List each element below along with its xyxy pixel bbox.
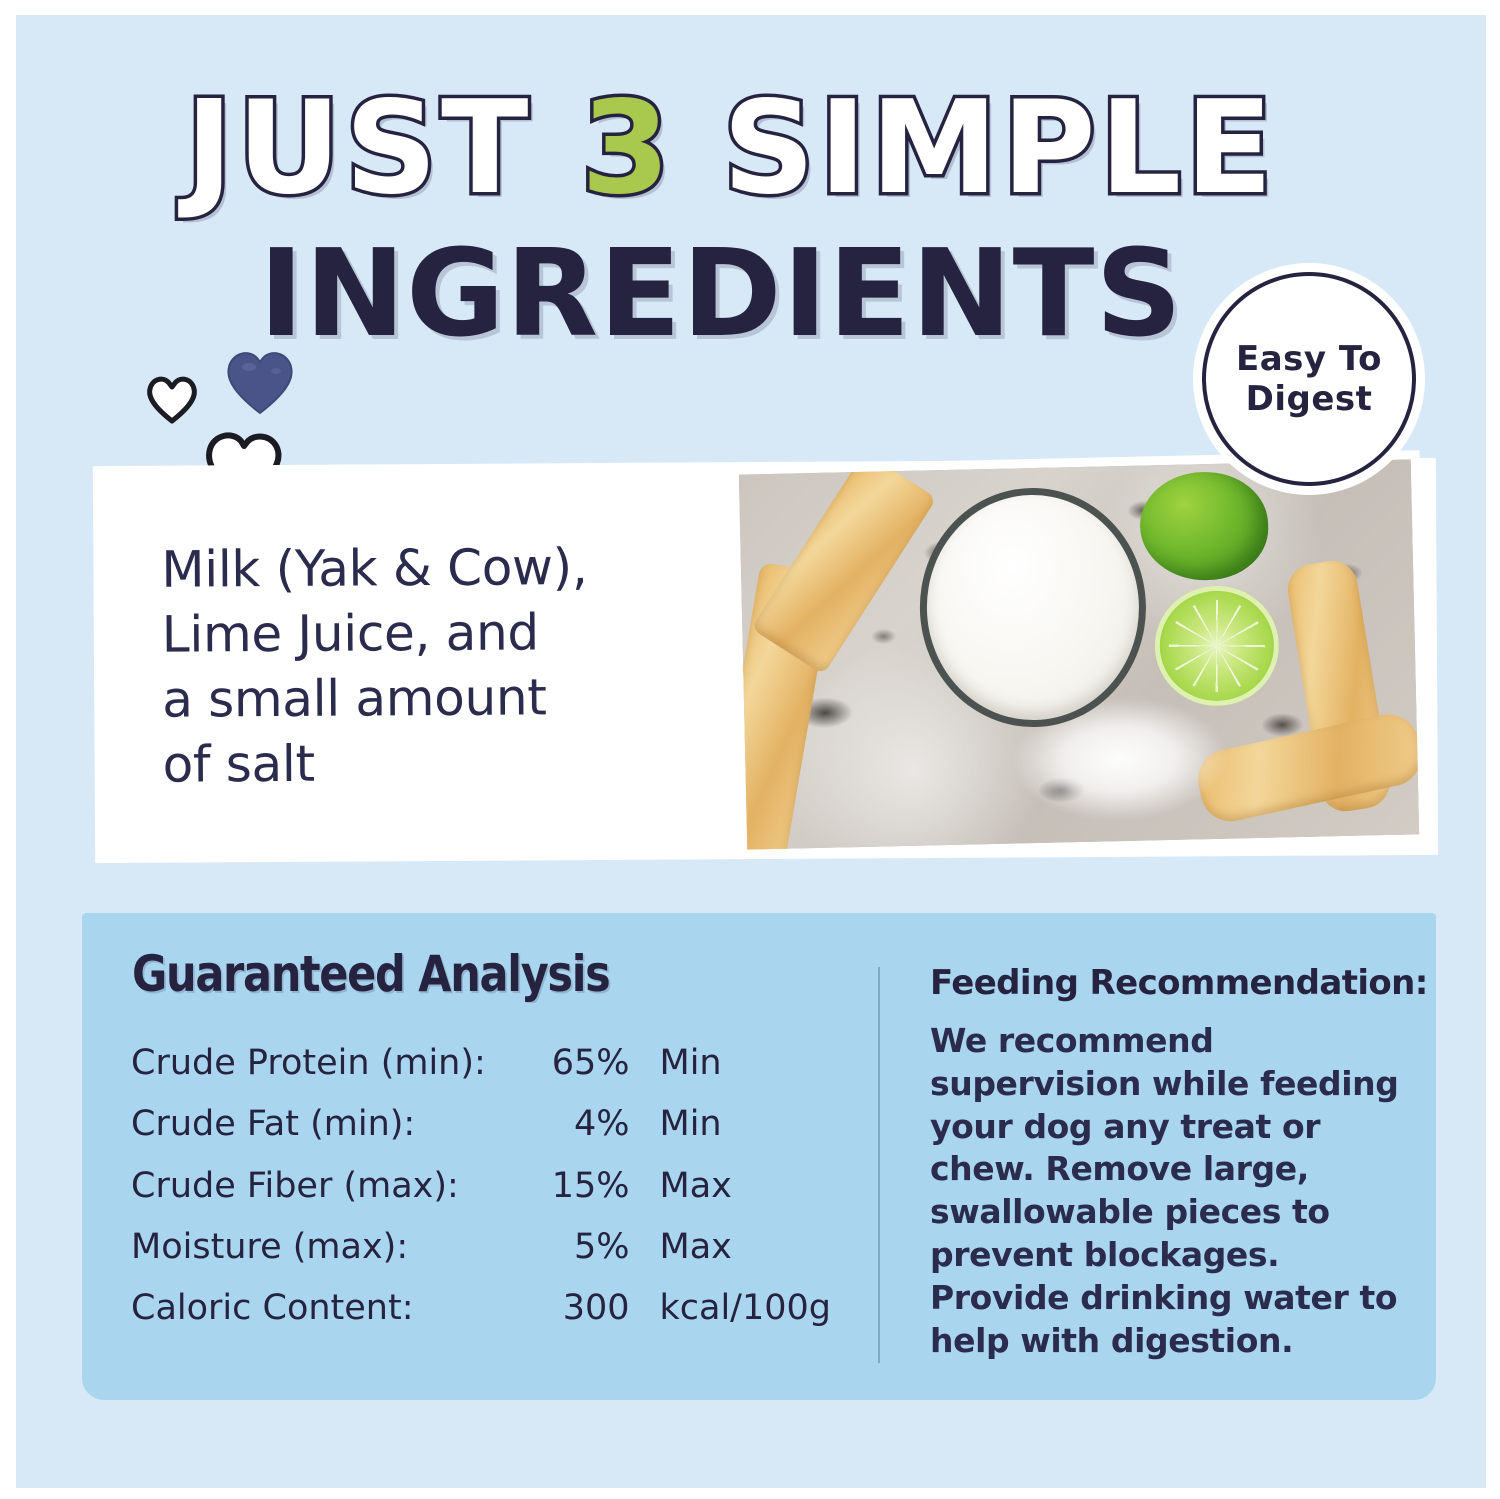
photo-contents [739,459,1419,849]
analysis-label: Crude Protein (min): [131,1033,518,1094]
table-row: Moisture (max): 5% Max [131,1217,831,1278]
heart-small-outline-icon [144,373,200,425]
guaranteed-analysis-table: Crude Protein (min): 65% Min Crude Fat (… [131,1033,831,1339]
headline-number-3: 3 [581,74,674,223]
badge-label: Easy To Digest [1236,339,1382,419]
infographic-page: JUST 3 SIMPLE INGREDIENTS Milk (Yak & Co… [0,0,1500,1499]
analysis-unit: Min [630,1033,832,1094]
analysis-value: 65% [518,1033,630,1094]
analysis-unit: Max [630,1217,832,1278]
analysis-label: Crude Fiber (max): [131,1156,518,1217]
analysis-label: Moisture (max): [131,1217,518,1278]
analysis-value: 15% [518,1156,630,1217]
headline-just-text: JUST [185,74,581,223]
feeding-recommendation-title: Feeding Recommendation: [930,963,1400,1004]
table-row: Caloric Content: 300 kcal/100g [131,1278,831,1339]
headline-line-1: JUST 3 SIMPLE [0,85,1486,213]
table-row: Crude Protein (min): 65% Min [131,1033,831,1094]
facts-panel: Guaranteed Analysis Crude Protein (min):… [82,913,1436,1400]
product-photo [739,459,1419,849]
analysis-unit: kcal/100g [630,1278,832,1339]
analysis-unit: Max [630,1156,832,1217]
guaranteed-analysis-title: Guaranteed Analysis [132,945,609,1003]
blue-canvas: JUST 3 SIMPLE INGREDIENTS Milk (Yak & Co… [16,15,1486,1488]
feeding-recommendation-body: We recommend supervision while feeding y… [930,1020,1400,1363]
table-row: Crude Fat (min): 4% Min [131,1094,831,1155]
analysis-value: 300 [518,1278,630,1339]
analysis-label: Caloric Content: [131,1278,518,1339]
analysis-value: 5% [518,1217,630,1278]
analysis-value: 4% [518,1094,630,1155]
feeding-recommendation-block: Feeding Recommendation: We recommend sup… [930,963,1400,1363]
easy-to-digest-badge: Easy To Digest [1193,263,1425,495]
heart-filled-navy-icon [221,345,299,417]
analysis-label: Crude Fat (min): [131,1094,518,1155]
headline-simple-text: SIMPLE [674,74,1277,223]
vertical-divider [878,967,880,1363]
table-row: Crude Fiber (max): 15% Max [131,1156,831,1217]
ingredients-text: Milk (Yak & Cow), Lime Juice, and a smal… [161,534,763,798]
analysis-unit: Min [630,1094,832,1155]
